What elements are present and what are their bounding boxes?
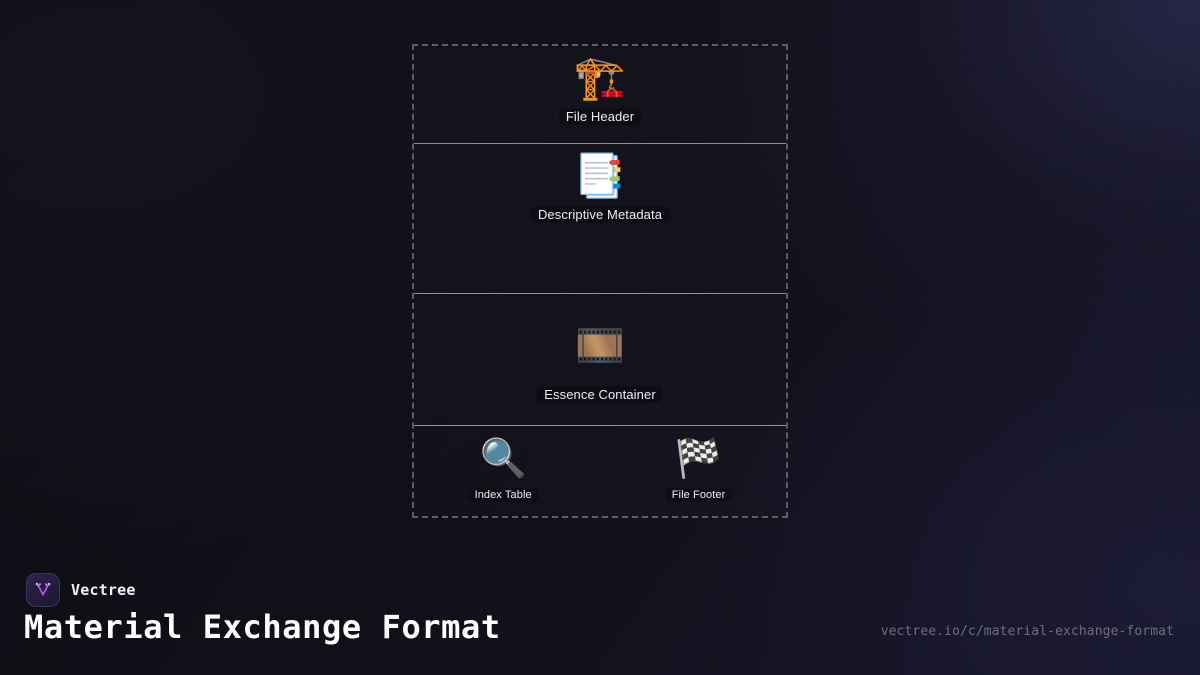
node-essence-container[interactable]: 🎞️ Essence Container (537, 326, 663, 403)
diagram-section-index-and-footer: 🔍 Index Table 🏁 File Footer (414, 425, 786, 516)
page-footer: Vectree Material Exchange Format vectree… (0, 555, 1200, 675)
node-label-essence-container: Essence Container (537, 386, 663, 403)
node-label-descriptive-metadata: Descriptive Metadata (531, 206, 669, 223)
diagram-section-file-header: 🏗️ File Header (414, 46, 786, 143)
node-file-footer[interactable]: 🏁 File Footer (665, 439, 733, 502)
vectree-logo-icon (26, 573, 60, 607)
brand-name: Vectree (71, 581, 136, 599)
node-index-table[interactable]: 🔍 Index Table (468, 439, 539, 502)
film-frames-icon: 🎞️ (575, 326, 625, 366)
diagram-section-descriptive-metadata: 📑 Descriptive Metadata (414, 143, 786, 293)
node-label-file-header: File Header (559, 108, 641, 125)
node-descriptive-metadata[interactable]: 📑 Descriptive Metadata (531, 155, 669, 223)
bookmark-tabs-icon: 📑 (574, 155, 626, 197)
node-label-index-table: Index Table (468, 488, 539, 502)
page-title: Material Exchange Format (24, 608, 501, 646)
brand-lockup[interactable]: Vectree (26, 573, 136, 607)
node-label-file-footer: File Footer (665, 488, 733, 502)
page-background: 🏗️ File Header 📑 Descriptive Metadata 🎞️… (0, 0, 1200, 675)
diagram-section-essence-container: 🎞️ Essence Container (414, 293, 786, 425)
construction-crane-icon: 🏗️ (574, 57, 626, 99)
mxf-structure-diagram: 🏗️ File Header 📑 Descriptive Metadata 🎞️… (412, 44, 788, 518)
magnifying-glass-icon: 🔍 (479, 439, 526, 477)
node-file-header[interactable]: 🏗️ File Header (559, 57, 641, 125)
chequered-flag-icon: 🏁 (675, 439, 722, 477)
page-url: vectree.io/c/material-exchange-format (881, 624, 1174, 639)
